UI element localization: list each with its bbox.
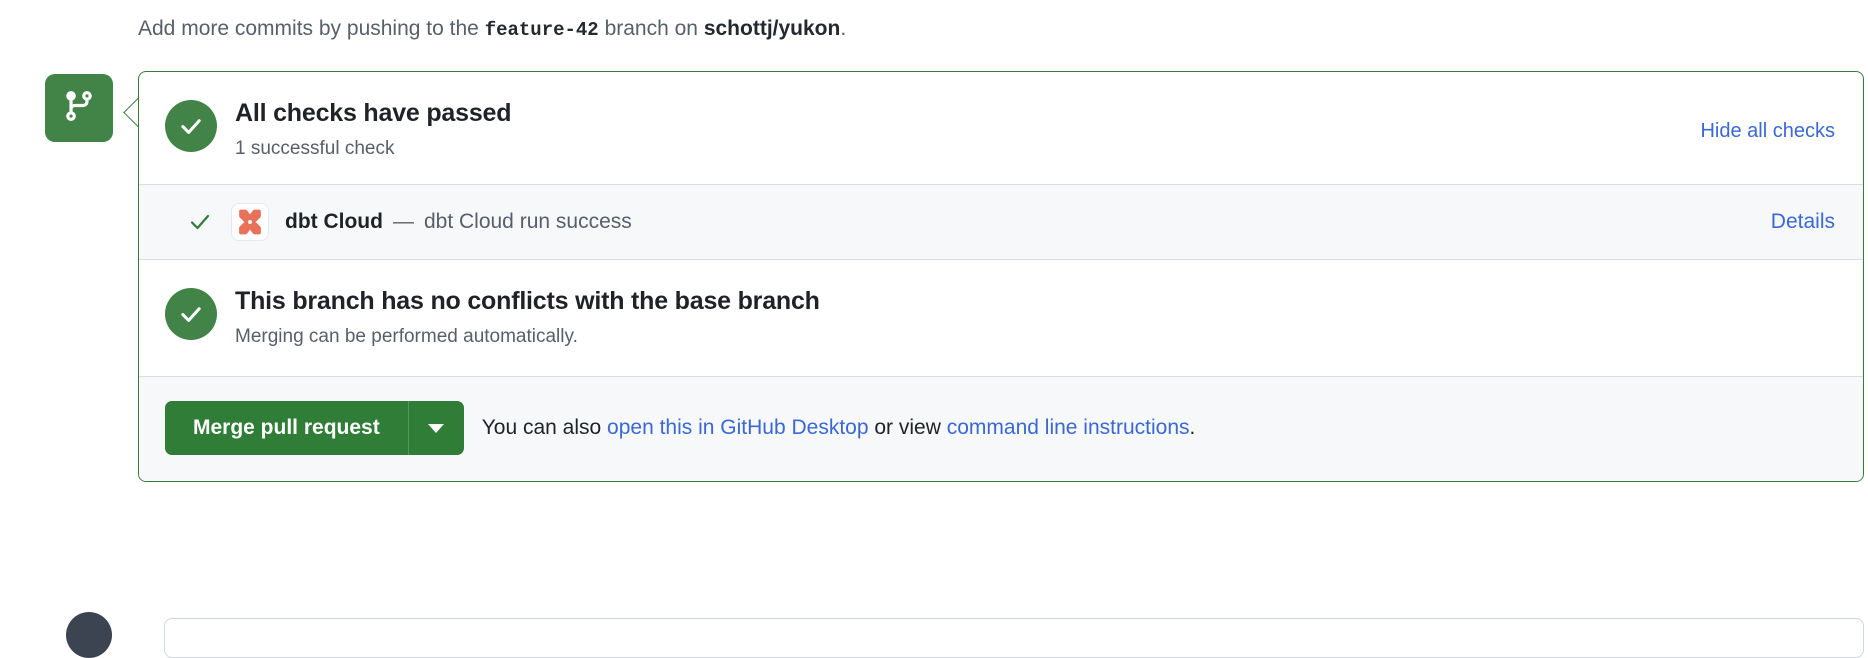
- branch-name: feature-42: [485, 19, 599, 41]
- next-timeline-box: [164, 618, 1864, 658]
- footer-note-suffix: .: [1190, 416, 1196, 439]
- merge-dropdown-button[interactable]: [408, 401, 464, 455]
- checks-header-section: All checks have passed 1 successful chec…: [139, 72, 1863, 184]
- merge-footer: Merge pull request You can also open thi…: [139, 376, 1863, 481]
- check-run-name: dbt Cloud: [285, 210, 383, 234]
- hide-all-checks-link[interactable]: Hide all checks: [1700, 120, 1835, 143]
- push-hint-middle: branch on: [605, 17, 698, 40]
- merge-pull-request-button[interactable]: Merge pull request: [165, 401, 408, 455]
- check-icon: [187, 209, 213, 235]
- command-line-instructions-link[interactable]: command line instructions: [947, 416, 1190, 439]
- git-branch-icon: [62, 89, 96, 128]
- merge-footer-note: You can also open this in GitHub Desktop…: [482, 414, 1196, 442]
- footer-note-prefix: You can also: [482, 416, 602, 439]
- conflicts-text: This branch has no conflicts with the ba…: [235, 286, 1835, 350]
- checks-subtitle: 1 successful check: [235, 136, 1700, 162]
- push-hint-suffix: .: [840, 17, 846, 40]
- checks-header-text: All checks have passed 1 successful chec…: [235, 98, 1700, 162]
- timeline-badge: [45, 74, 113, 142]
- check-run-row[interactable]: dbt Cloud — dbt Cloud run success Detail…: [139, 184, 1863, 260]
- checks-title: All checks have passed: [235, 98, 1700, 128]
- footer-note-middle: or view: [874, 416, 941, 439]
- push-hint-prefix: Add more commits by pushing to the: [138, 17, 479, 40]
- dbt-logo-icon: [231, 203, 269, 241]
- conflicts-title: This branch has no conflicts with the ba…: [235, 286, 1835, 316]
- conflicts-subtitle: Merging can be performed automatically.: [235, 324, 1835, 350]
- check-run-separator: —: [393, 210, 414, 234]
- merge-box-pointer: [121, 96, 138, 128]
- avatar[interactable]: [66, 612, 112, 658]
- conflicts-section: This branch has no conflicts with the ba…: [139, 260, 1863, 376]
- merge-status-box: All checks have passed 1 successful chec…: [138, 71, 1864, 482]
- chevron-down-icon: [428, 424, 444, 433]
- repo-name: schottj/yukon: [704, 17, 841, 40]
- check-run-description: dbt Cloud run success: [424, 210, 1771, 234]
- github-desktop-link[interactable]: open this in GitHub Desktop: [607, 416, 868, 439]
- check-circle-icon: [165, 100, 217, 152]
- merge-button-group: Merge pull request: [165, 401, 464, 455]
- push-hint: Add more commits by pushing to the featu…: [138, 14, 846, 45]
- check-run-details-link[interactable]: Details: [1771, 210, 1835, 234]
- check-circle-icon: [165, 288, 217, 340]
